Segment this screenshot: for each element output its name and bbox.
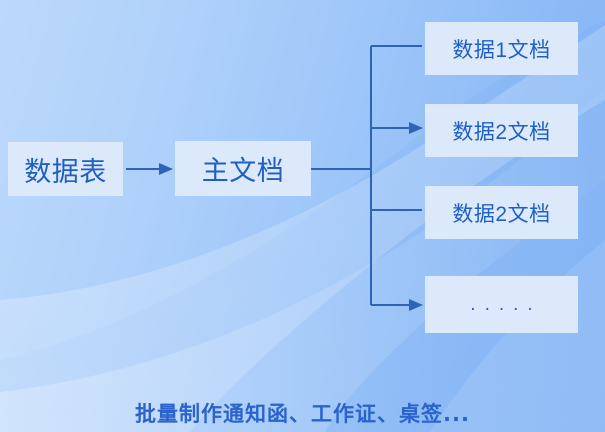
node-data-table[interactable]: 数据表 (8, 142, 123, 196)
node-output-document-more[interactable]: ..... (425, 276, 578, 333)
node-output-document-2[interactable]: 数据2文档 (425, 104, 578, 157)
node-output-document-3[interactable]: 数据2文档 (425, 186, 578, 239)
ellipsis-dots: ..... (461, 295, 541, 314)
node-output-document-1[interactable]: 数据1文档 (425, 22, 578, 75)
caption-text: 批量制作通知函、工作证、桌签... (0, 398, 605, 428)
node-main-document[interactable]: 主文档 (175, 141, 311, 196)
diagram-canvas: 数据表 主文档 数据1文档 数据2文档 数据2文档 ..... 批量制作通知函、… (0, 0, 605, 432)
